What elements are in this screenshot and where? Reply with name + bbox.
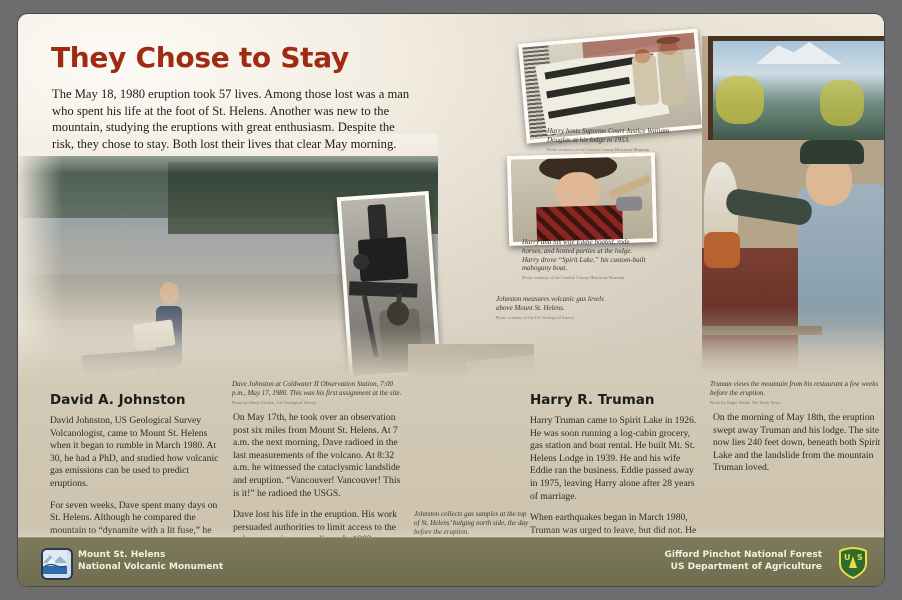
photo-credit: Photo by Roger Werth, The Daily News	[710, 400, 882, 405]
photo-harry-portrait	[507, 152, 657, 246]
caption-text: Dave Johnston at Coldwater II Observatio…	[232, 380, 401, 397]
mountain-lake-icon	[41, 548, 73, 580]
mountain-lake-glyph	[43, 550, 67, 574]
footer-right-line2: US Department of Agriculture	[665, 561, 822, 573]
caption-truman-lodge-sign: Harry hosts Supreme Court Justice Willia…	[547, 127, 687, 152]
footer-right-line1: Gifford Pinchot National Forest	[665, 549, 822, 561]
usfs-shield-icon: U S	[838, 547, 868, 579]
paragraph: Harry Truman came to Spirit Lake in 1926…	[530, 415, 700, 503]
paragraph: On the morning of May 18th, the eruption…	[713, 412, 884, 475]
caption-text: Johnston measures volcanic gas levels ab…	[496, 295, 604, 312]
caption-text: Truman views the mountain from his resta…	[710, 380, 878, 397]
caption-gas-levels: Johnston measures volcanic gas levels ab…	[496, 295, 622, 320]
section-heading-truman: Harry R. Truman	[530, 392, 700, 408]
footer-left-line1: Mount St. Helens	[78, 549, 223, 561]
footer-bar: Mount St. Helens National Volcanic Monum…	[18, 537, 884, 586]
interpretive-sign-panel: They Chose to Stay The May 18, 1980 erup…	[18, 14, 884, 586]
svg-text:U: U	[844, 553, 851, 562]
footer-left-line2: National Volcanic Monument	[78, 561, 223, 573]
caption-text: Harry hosts Supreme Court Justice Willia…	[547, 127, 669, 144]
photo-credit: Photo courtesy of the Cowlitz County His…	[547, 147, 687, 152]
usfs-shield-glyph: U S	[838, 547, 868, 579]
section-heading-johnston: David A. Johnston	[50, 392, 220, 408]
page-title: They Chose to Stay	[51, 41, 349, 74]
caption-truman-restaurant: Truman views the mountain from his resta…	[710, 380, 882, 405]
photo-credit: Photo courtesy of the US Geological Surv…	[496, 315, 622, 320]
paragraph: David Johnston, US Geological Survey Vol…	[50, 415, 220, 491]
paragraph: On May 17th, he took over an observation…	[233, 412, 401, 500]
intro-paragraph: The May 18, 1980 eruption took 57 lives.…	[52, 86, 410, 152]
photo-credit: Photo by Harry Glicken, US Geological Su…	[232, 400, 404, 405]
caption-harry-eddie: Harry and his wife Eddie boated, rode ho…	[522, 238, 650, 281]
footer-right-text: Gifford Pinchot National Forest US Depar…	[665, 549, 822, 573]
photo-truman-restaurant	[702, 36, 884, 374]
svg-text:S: S	[857, 553, 863, 562]
footer-left-text: Mount St. Helens National Volcanic Monum…	[78, 549, 223, 573]
caption-text: Harry and his wife Eddie boated, rode ho…	[522, 238, 645, 272]
section-harry-truman-continued: On the morning of May 18th, the eruption…	[713, 412, 884, 484]
caption-johnston-coldwater: Dave Johnston at Coldwater II Observatio…	[232, 380, 404, 405]
photo-credit: Photo courtesy of the Cowlitz County His…	[522, 275, 650, 280]
